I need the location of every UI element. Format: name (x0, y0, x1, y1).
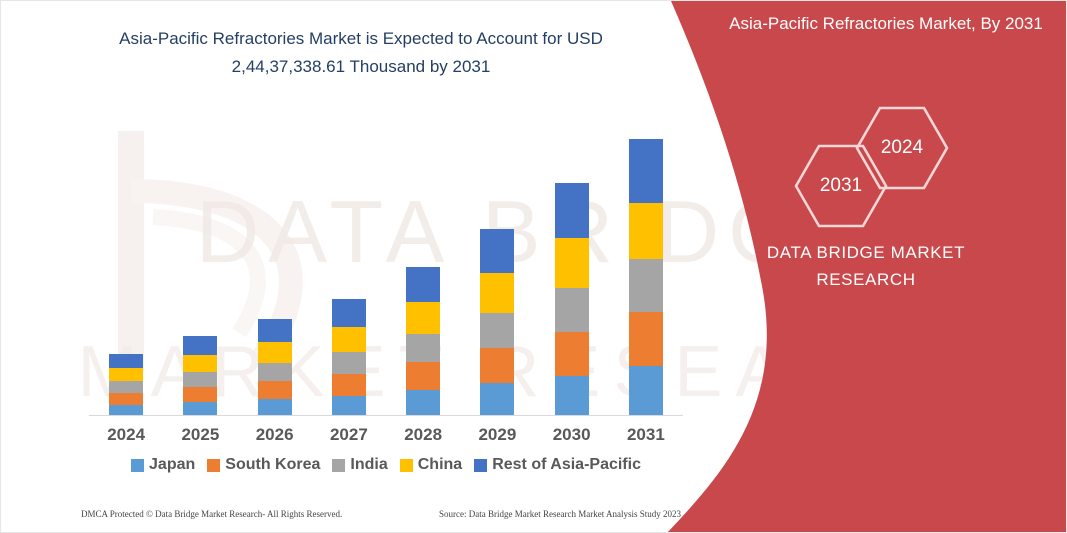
x-axis-label-2027: 2027 (312, 425, 386, 445)
bar-segment (109, 354, 143, 368)
infographic-page: DATA BRIDGE MARKET RESEARCH Asia-Pacific… (0, 0, 1067, 533)
x-axis-label-2026: 2026 (238, 425, 312, 445)
brand-panel-content: Asia-Pacific Refractories Market, By 203… (666, 1, 1066, 533)
bar-segment (109, 393, 143, 405)
bar-segment (332, 327, 366, 352)
bar-segment (332, 352, 366, 374)
bar-group-2029 (480, 229, 514, 416)
bar-segment (183, 387, 217, 402)
bar-group-2027 (332, 299, 366, 416)
bar-segment (406, 390, 440, 416)
brand-name-line-2: RESEARCH (706, 266, 1026, 293)
chart-title: Asia-Pacific Refractories Market is Expe… (61, 25, 661, 81)
brand-panel: Asia-Pacific Refractories Market, By 203… (666, 1, 1066, 533)
bar-segment (109, 381, 143, 393)
legend-item-rest-of-asia-pacific[interactable]: Rest of Asia-Pacific (474, 456, 641, 474)
bar-segment (258, 342, 292, 363)
bar-group-2026 (258, 319, 292, 416)
bar-segment (258, 399, 292, 416)
bar-segment (406, 334, 440, 362)
bar-segment (629, 366, 663, 416)
bar-segment (406, 302, 440, 334)
x-axis-label-2029: 2029 (460, 425, 534, 445)
x-axis-label-2028: 2028 (386, 425, 460, 445)
bar-group-2024 (109, 354, 143, 416)
bar-segment (406, 267, 440, 302)
hexagon-badge-2024-label: 2024 (881, 137, 923, 159)
bar-segment (258, 381, 292, 399)
footer-source-note: Source: Data Bridge Market Research Mark… (439, 509, 681, 519)
legend-item-india[interactable]: India (332, 456, 387, 474)
legend-swatch-icon (332, 459, 345, 472)
legend-label: India (350, 456, 387, 474)
bar-group-2031 (629, 139, 663, 416)
x-axis-label-2030: 2030 (535, 425, 609, 445)
bar-segment (555, 376, 589, 416)
bar-segment (258, 319, 292, 342)
bar-segment (555, 332, 589, 376)
bar-segment (629, 139, 663, 203)
bar-segment (480, 229, 514, 273)
legend-item-south-korea[interactable]: South Korea (207, 456, 320, 474)
legend-swatch-icon (131, 459, 144, 472)
bar-group-2030 (555, 183, 589, 416)
bar-segment (555, 288, 589, 332)
legend-swatch-icon (474, 459, 487, 472)
bar-segment (258, 363, 292, 381)
x-axis-label-2024: 2024 (89, 425, 163, 445)
bar-group-2028 (406, 267, 440, 416)
legend-swatch-icon (400, 459, 413, 472)
bar-segment (332, 374, 366, 396)
bar-group-2025 (183, 336, 217, 416)
footer-dmca-notice: DMCA Protected © Data Bridge Market Rese… (81, 509, 342, 519)
legend-item-japan[interactable]: Japan (131, 456, 195, 474)
legend-item-china[interactable]: China (400, 456, 462, 474)
legend-label: China (418, 456, 462, 474)
x-axis-labels: 20242025202620272028202920302031 (89, 425, 683, 451)
bar-segment (109, 368, 143, 381)
bar-segment (183, 355, 217, 372)
legend-label: Japan (149, 456, 195, 474)
chart-legend: JapanSouth KoreaIndiaChinaRest of Asia-P… (89, 456, 683, 474)
bar-segment (332, 396, 366, 416)
hexagon-badge-2024: 2024 (854, 105, 950, 191)
legend-label: Rest of Asia-Pacific (492, 456, 641, 474)
bar-segment (183, 372, 217, 387)
bar-segment (480, 313, 514, 348)
brand-name: DATA BRIDGE MARKET RESEARCH (706, 239, 1026, 293)
hexagon-badge-2031-label: 2031 (820, 175, 862, 197)
bar-segment (406, 362, 440, 390)
bar-segment (183, 402, 217, 416)
bar-segment (629, 259, 663, 312)
footer: DMCA Protected © Data Bridge Market Rese… (81, 509, 681, 519)
bar-segment (480, 273, 514, 313)
legend-swatch-icon (207, 459, 220, 472)
bar-segment (629, 203, 663, 259)
brand-name-line-1: DATA BRIDGE MARKET (706, 239, 1026, 266)
bar-segment (480, 348, 514, 383)
bar-segment (183, 336, 217, 355)
stacked-bar-plot (89, 121, 683, 416)
x-axis-label-2025: 2025 (163, 425, 237, 445)
chart-area: Asia-Pacific Refractories Market is Expe… (1, 1, 701, 533)
x-axis-line (89, 415, 683, 416)
bar-segment (555, 183, 589, 238)
bar-segment (555, 238, 589, 288)
legend-label: South Korea (225, 456, 320, 474)
bar-segment (332, 299, 366, 327)
bar-segment (629, 312, 663, 366)
brand-panel-title: Asia-Pacific Refractories Market, By 203… (726, 11, 1046, 36)
bar-segment (480, 383, 514, 416)
